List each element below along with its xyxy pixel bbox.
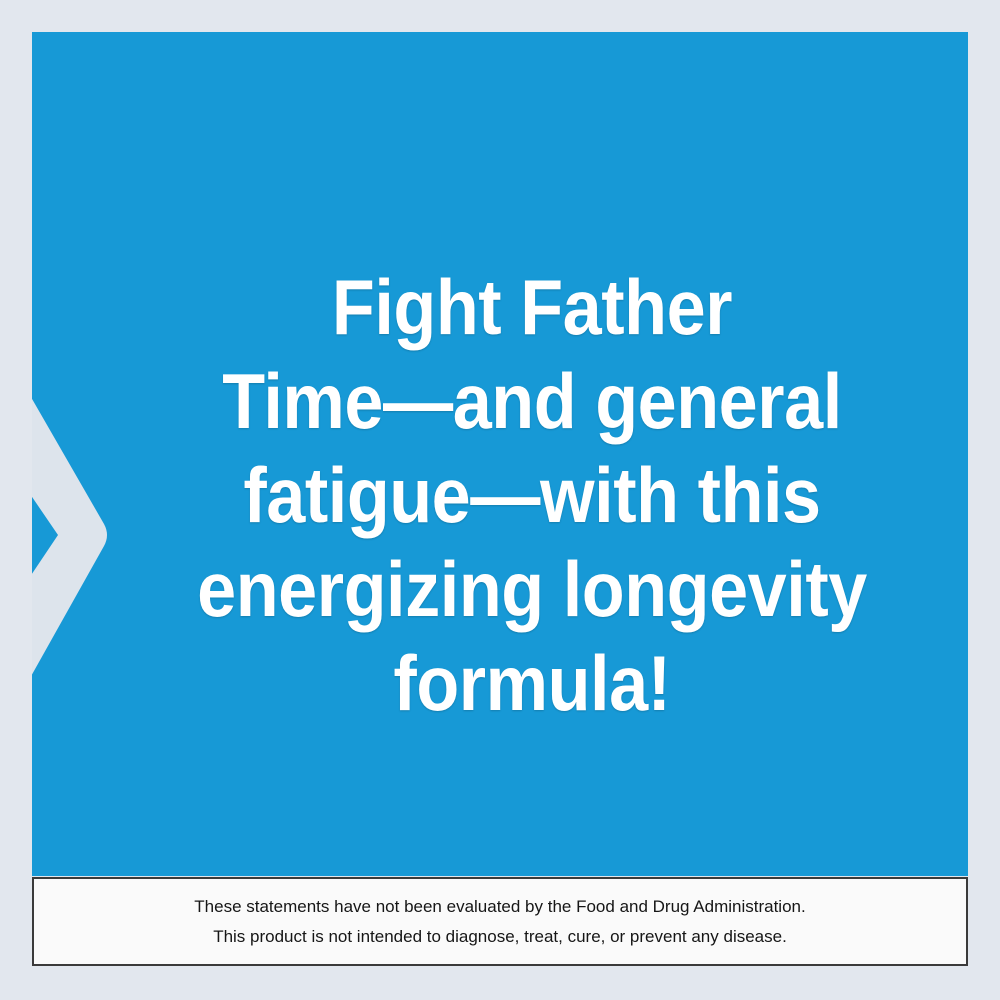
- disclaimer-line-1: These statements have not been evaluated…: [194, 892, 805, 922]
- promo-banner: Fight Father Time—and general fatigue—wi…: [0, 0, 1000, 1000]
- hero-panel: Fight Father Time—and general fatigue—wi…: [32, 32, 968, 876]
- headline: Fight Father Time—and general fatigue—wi…: [111, 260, 953, 730]
- disclaimer-line-2: This product is not intended to diagnose…: [213, 922, 787, 952]
- fda-disclaimer-box: These statements have not been evaluated…: [32, 877, 968, 966]
